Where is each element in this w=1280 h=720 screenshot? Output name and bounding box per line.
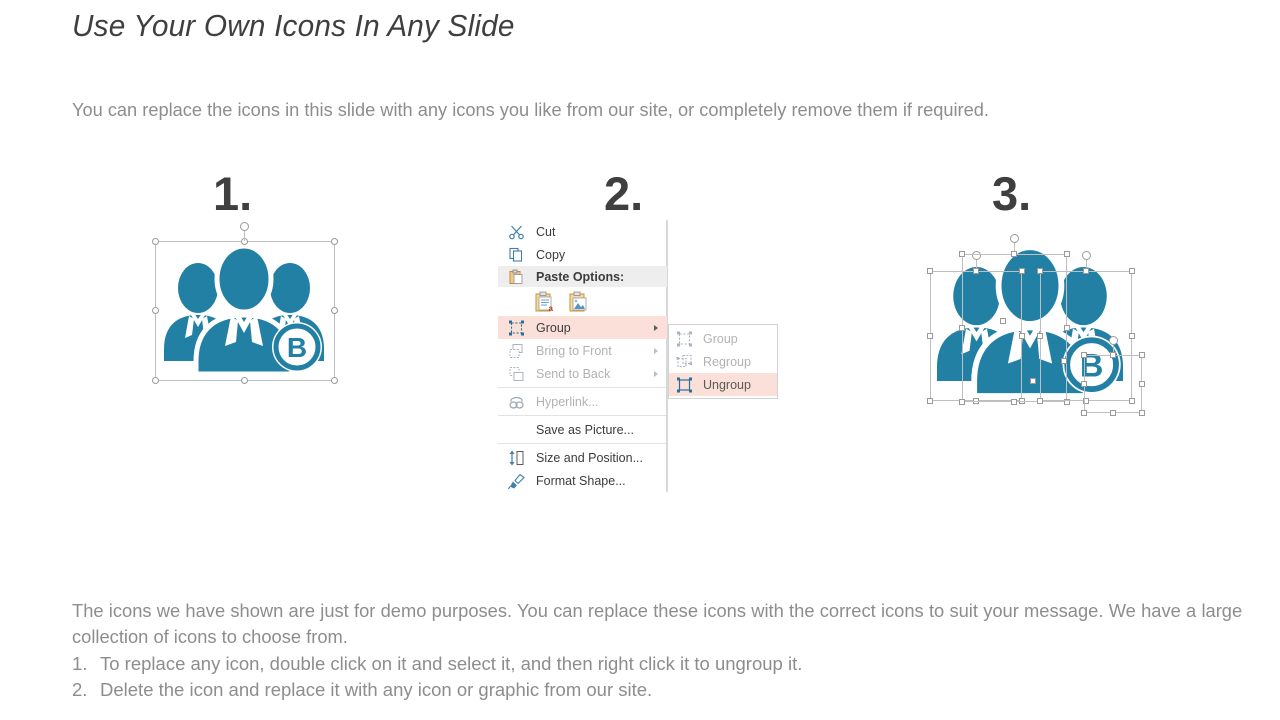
selection-handle-se[interactable] (331, 377, 338, 384)
selection-handle-se[interactable] (1064, 399, 1070, 405)
page-title: Use Your Own Icons In Any Slide (72, 8, 515, 44)
selection-handle-se[interactable] (1129, 398, 1135, 404)
slide-canvas: Use Your Own Icons In Any Slide You can … (0, 0, 1280, 720)
step-number-2: 2. (604, 170, 643, 217)
menu-item-label: Send to Back (536, 367, 610, 381)
people-team-svg: B (930, 243, 1130, 398)
selection-handle-sw[interactable] (152, 377, 159, 384)
selection-handle-nw[interactable] (927, 268, 933, 274)
selection-handle-inner[interactable] (1030, 378, 1036, 384)
menu-item-label: Hyperlink... (536, 395, 599, 409)
selection-handle-n[interactable] (1011, 251, 1017, 257)
selection-handle-s[interactable] (241, 377, 248, 384)
step-number-3: 3. (992, 170, 1031, 217)
selection-handle-sw[interactable] (927, 398, 933, 404)
submenu-item-label: Ungroup (703, 378, 751, 392)
chevron-right-icon (654, 371, 658, 377)
selection-handle-e[interactable] (1129, 333, 1135, 339)
size-position-icon (508, 449, 525, 466)
selection-handle-nw[interactable] (959, 251, 965, 257)
menu-item-hyperlink[interactable]: Hyperlink... (498, 390, 667, 413)
people-team-icon-1[interactable]: B (158, 243, 330, 375)
selection-handle-sw[interactable] (959, 399, 965, 405)
selection-handle-w[interactable] (1037, 333, 1043, 339)
menu-item-paste-options: Paste Options: (498, 266, 667, 287)
selection-handle-s[interactable] (973, 398, 979, 404)
bring-to-front-icon (508, 342, 525, 359)
paste-options-label: Paste Options: (536, 270, 624, 284)
selection-handle-ne[interactable] (1064, 251, 1070, 257)
rotation-handle-badge[interactable] (1109, 336, 1118, 345)
list-item-text: To replace any icon, double click on it … (100, 651, 1172, 677)
format-shape-icon (508, 472, 525, 489)
menu-item-save-as-picture[interactable]: Save as Picture... (498, 418, 667, 441)
menu-item-copy[interactable]: Copy (498, 243, 667, 266)
selection-handle-sw[interactable] (1037, 398, 1043, 404)
copy-icon (508, 246, 525, 263)
menu-item-bring-to-front[interactable]: Bring to Front (498, 339, 667, 362)
selection-handle-s[interactable] (1011, 399, 1017, 405)
menu-item-label: Group (536, 321, 571, 335)
list-item-number: 1. (72, 651, 100, 677)
selection-handle-w[interactable] (1081, 381, 1087, 387)
selection-handle-n[interactable] (973, 268, 979, 274)
menu-item-size-and-position[interactable]: Size and Position... (498, 446, 667, 469)
selection-handle-sw[interactable] (1081, 410, 1087, 416)
menu-item-label: Copy (536, 248, 565, 262)
selection-handle-w[interactable] (927, 333, 933, 339)
menu-separator (498, 415, 667, 416)
menu-separator (498, 387, 667, 388)
menu-item-label: Save as Picture... (536, 423, 634, 437)
selection-handle-inner[interactable] (1061, 358, 1067, 364)
scissors-icon (508, 223, 525, 240)
menu-item-group[interactable]: Group (498, 316, 667, 339)
people-team-icon-3[interactable]: B (930, 243, 1130, 398)
selection-handle-w[interactable] (152, 307, 159, 314)
selection-handle-e[interactable] (1019, 333, 1025, 339)
selection-handle-ne[interactable] (1129, 268, 1135, 274)
selection-handle-n[interactable] (1110, 352, 1116, 358)
selection-handle-ne[interactable] (1019, 268, 1025, 274)
group-icon (508, 319, 525, 336)
group-icon (676, 330, 693, 347)
submenu-item-regroup[interactable]: Regroup (669, 350, 777, 373)
rotation-handle-person-center[interactable] (1010, 234, 1019, 243)
menu-item-cut[interactable]: Cut (498, 220, 667, 243)
menu-item-label: Format Shape... (536, 474, 626, 488)
intro-paragraph: You can replace the icons in this slide … (72, 95, 1169, 124)
regroup-icon (676, 353, 693, 370)
selection-handle-se[interactable] (1019, 398, 1025, 404)
ungroup-icon (676, 376, 693, 393)
list-item: 2. Delete the icon and replace it with a… (72, 677, 1172, 703)
rotation-handle-icon-1[interactable] (240, 222, 249, 231)
selection-handle-w[interactable] (959, 325, 965, 331)
badge-letter: B (287, 332, 307, 363)
selection-handle-inner[interactable] (1000, 318, 1006, 324)
svg-text:a: a (549, 304, 554, 313)
paste-icon (508, 268, 524, 285)
people-team-svg: B (158, 243, 330, 375)
bottom-numbered-list: 1. To replace any icon, double click on … (72, 651, 1172, 703)
context-menu[interactable]: Cut Copy Paste Options: a (498, 220, 668, 492)
menu-item-send-to-back[interactable]: Send to Back (498, 362, 667, 385)
selection-handle-se[interactable] (1139, 410, 1145, 416)
submenu-item-group[interactable]: Group (669, 327, 777, 350)
selection-handle-ne[interactable] (1139, 352, 1145, 358)
selection-handle-e[interactable] (1139, 381, 1145, 387)
paste-picture-icon[interactable] (568, 290, 589, 313)
paste-options-row[interactable]: a (498, 287, 667, 316)
bottom-paragraph: The icons we have shown are just for dem… (72, 598, 1242, 650)
paste-keep-text-icon[interactable]: a (534, 290, 555, 313)
context-submenu-group[interactable]: Group Regroup Ungroup (668, 324, 778, 399)
chevron-right-icon (654, 325, 658, 331)
rotation-handle-person-right[interactable] (1082, 251, 1091, 260)
menu-separator (498, 443, 667, 444)
selection-handle-n[interactable] (1083, 268, 1089, 274)
hyperlink-icon (508, 393, 525, 410)
selection-handle-nw[interactable] (1081, 352, 1087, 358)
chevron-right-icon (654, 348, 658, 354)
rotation-handle-person-left[interactable] (972, 251, 981, 260)
list-item: 1. To replace any icon, double click on … (72, 651, 1172, 677)
selection-handle-nw[interactable] (152, 238, 159, 245)
submenu-item-label: Regroup (703, 355, 751, 369)
list-item-number: 2. (72, 677, 100, 703)
selection-handle-e[interactable] (331, 307, 338, 314)
menu-item-label: Bring to Front (536, 344, 612, 358)
submenu-item-label: Group (703, 332, 738, 346)
submenu-item-ungroup[interactable]: Ungroup (669, 373, 777, 396)
menu-item-label: Size and Position... (536, 451, 643, 465)
step-number-1: 1. (213, 170, 252, 217)
selection-handle-ne[interactable] (331, 238, 338, 245)
send-to-back-icon (508, 365, 525, 382)
selection-handle-s[interactable] (1110, 410, 1116, 416)
menu-item-format-shape[interactable]: Format Shape... (498, 469, 667, 492)
selection-handle-nw[interactable] (1037, 268, 1043, 274)
menu-item-label: Cut (536, 225, 555, 239)
selection-handle-s[interactable] (1083, 398, 1089, 404)
selection-handle-e[interactable] (1064, 325, 1070, 331)
list-item-text: Delete the icon and replace it with any … (100, 677, 1172, 703)
